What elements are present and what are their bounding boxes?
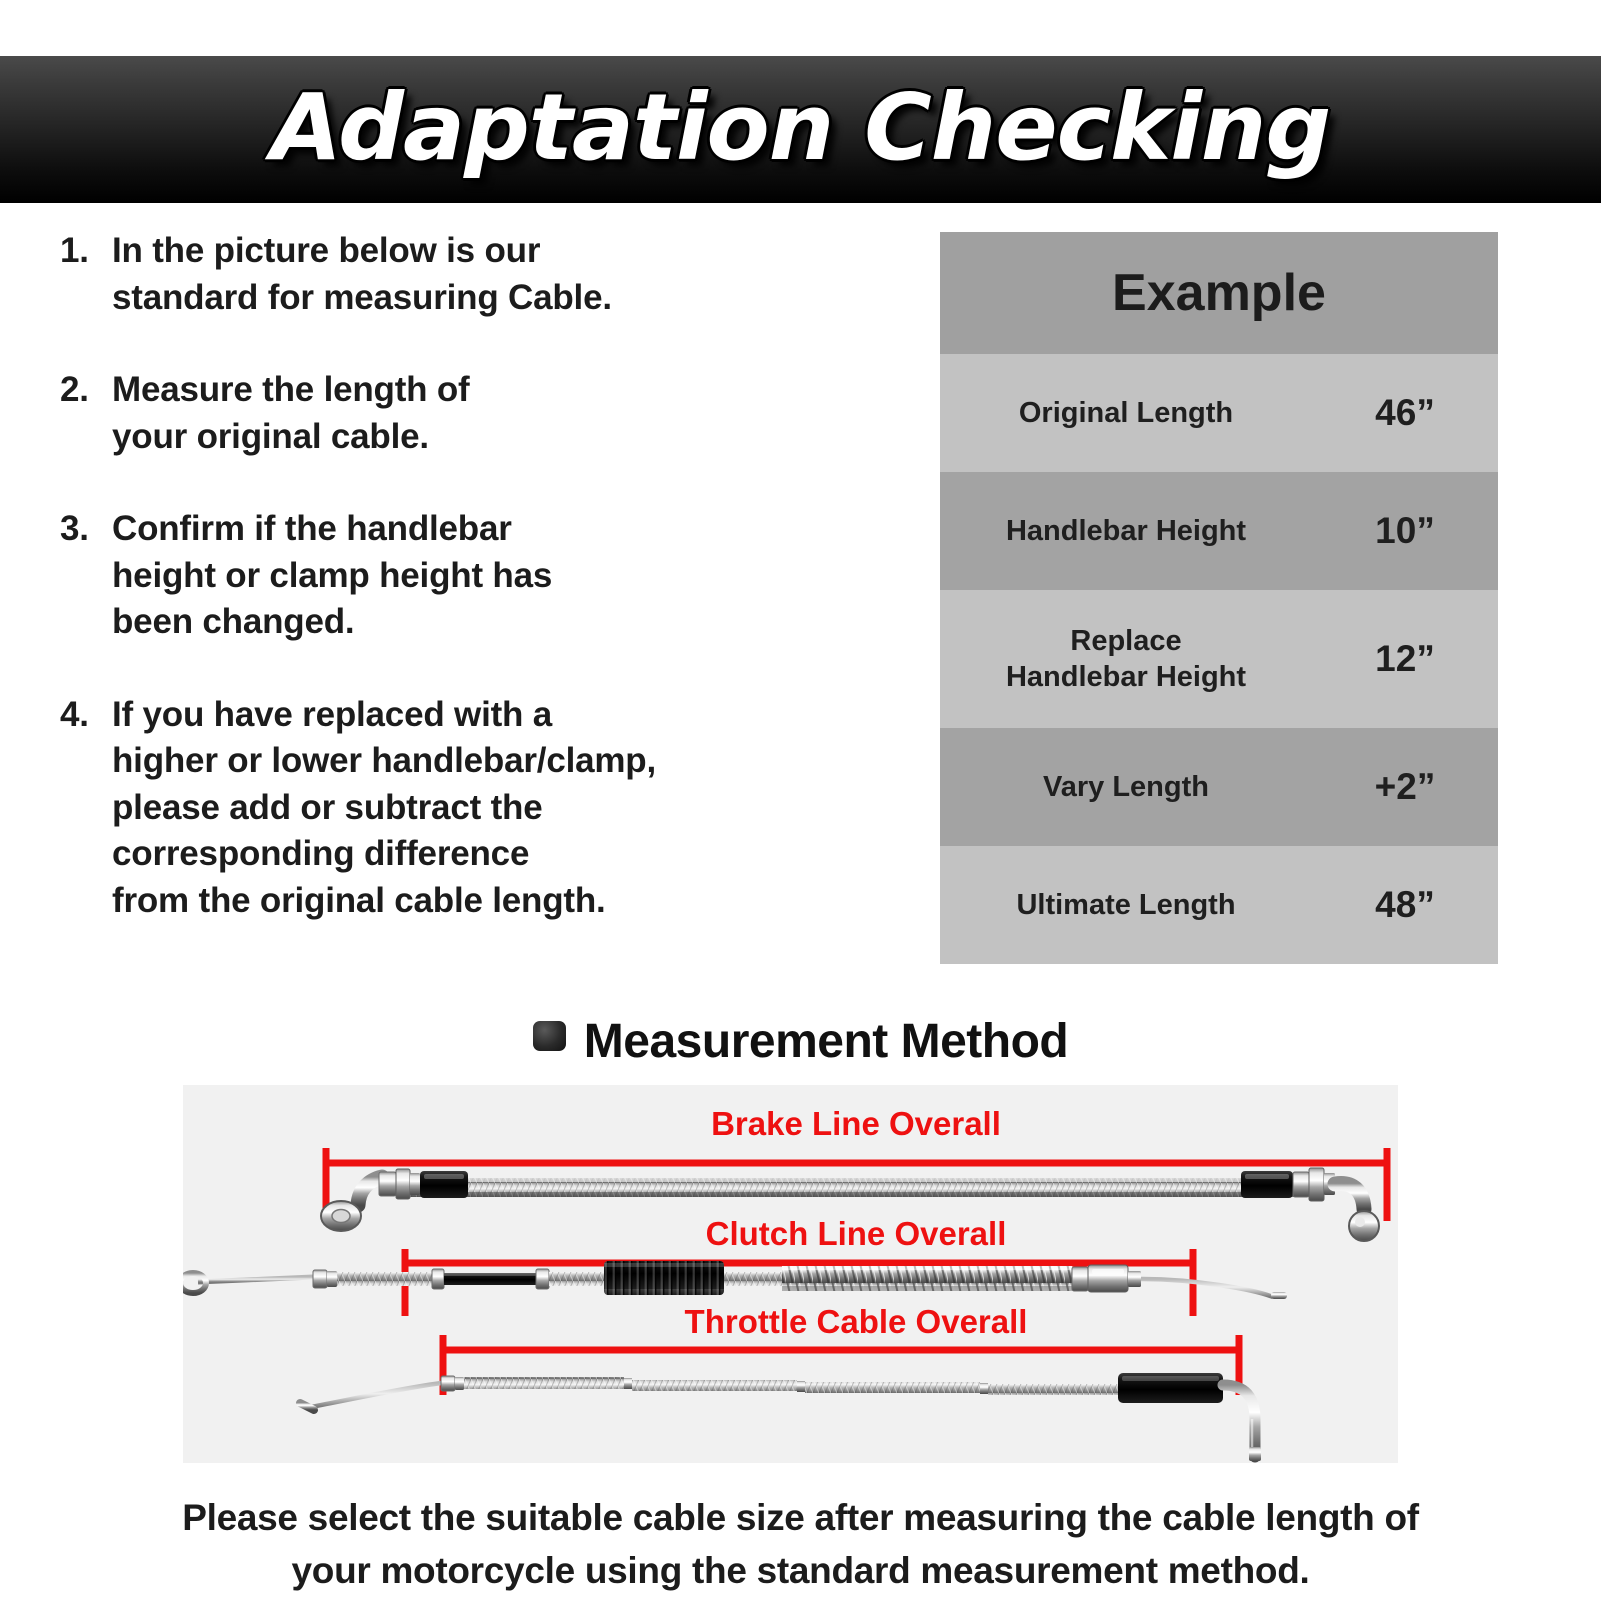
throttle-left-tip — [300, 1403, 314, 1410]
step-line: Confirm if the handlebar — [112, 506, 890, 553]
bullet-icon — [533, 1021, 566, 1051]
row-value: 46” — [1312, 354, 1498, 472]
list-item: 2. Measure the length of your original c… — [60, 367, 890, 460]
step-line: corresponding difference — [112, 831, 890, 878]
step-number: 2. — [60, 367, 112, 414]
table-header-row: Example — [940, 232, 1498, 354]
step-line: your original cable. — [112, 414, 890, 461]
step-line: height or clamp height has — [112, 553, 890, 600]
step-line: standard for measuring Cable. — [112, 275, 890, 322]
step-line: In the picture below is our — [112, 228, 890, 275]
step-text: If you have replaced with a higher or lo… — [112, 692, 890, 925]
footer-line-1: Please select the suitable cable size af… — [0, 1492, 1601, 1545]
throttle-left-wire — [311, 1383, 441, 1407]
step-line: higher or lower handlebar/clamp, — [112, 738, 890, 785]
row-label: Original Length — [940, 354, 1312, 472]
row-label: Handlebar Height — [940, 472, 1312, 590]
table-row: Replace Handlebar Height 12” — [940, 590, 1498, 728]
clutch-wire-tip — [1271, 1292, 1287, 1299]
example-table: Example Original Length 46” Handlebar He… — [940, 232, 1498, 964]
throttle-cable-group: Throttle Cable Overall — [300, 1303, 1261, 1461]
step-number: 3. — [60, 506, 112, 553]
row-label: Vary Length — [940, 728, 1312, 846]
step-line: from the original cable length. — [112, 878, 890, 925]
row-value: 12” — [1312, 590, 1498, 728]
page-title: Adaptation Checking — [0, 82, 1601, 174]
measurement-method-heading: Measurement Method — [0, 1014, 1601, 1069]
brake-left-fitting — [321, 1169, 468, 1231]
page-root: Adaptation Checking 1. In the picture be… — [0, 0, 1601, 1601]
step-text: In the picture below is our standard for… — [112, 228, 890, 321]
measurement-method-title: Measurement Method — [584, 1014, 1068, 1069]
table-row: Vary Length +2” — [940, 728, 1498, 846]
throttle-elbow — [1223, 1385, 1255, 1457]
header-banner: Adaptation Checking — [0, 56, 1601, 203]
footer-line-2: your motorcycle using the standard measu… — [0, 1545, 1601, 1598]
brake-line-label: Brake Line Overall — [711, 1105, 1001, 1142]
table-row: Ultimate Length 48” — [940, 846, 1498, 964]
table-header-label: Example — [940, 232, 1498, 354]
table-row: Handlebar Height 10” — [940, 472, 1498, 590]
table-row: Original Length 46” — [940, 354, 1498, 472]
clutch-line-label: Clutch Line Overall — [706, 1215, 1007, 1252]
list-item: 3. Confirm if the handlebar height or cl… — [60, 506, 890, 646]
step-number: 4. — [60, 692, 112, 739]
row-label: Ultimate Length — [940, 846, 1312, 964]
throttle-end-tip — [1249, 1447, 1261, 1461]
instruction-list: 1. In the picture below is our standard … — [60, 228, 890, 971]
step-number: 1. — [60, 228, 112, 275]
step-line: If you have replaced with a — [112, 692, 890, 739]
list-item: 4. If you have replaced with a higher or… — [60, 692, 890, 925]
list-item: 1. In the picture below is our standard … — [60, 228, 890, 321]
row-label: Replace Handlebar Height — [940, 590, 1312, 728]
step-line: please add or subtract the — [112, 785, 890, 832]
throttle-cable-label: Throttle Cable Overall — [685, 1303, 1028, 1340]
row-value: +2” — [1312, 728, 1498, 846]
clutch-right-wire — [1141, 1279, 1273, 1297]
footer-note: Please select the suitable cable size af… — [0, 1492, 1601, 1597]
step-line: been changed. — [112, 599, 890, 646]
row-label-line: Handlebar Height — [940, 659, 1312, 695]
step-text: Confirm if the handlebar height or clamp… — [112, 506, 890, 646]
brake-right-fitting — [1241, 1168, 1379, 1241]
row-value: 10” — [1312, 472, 1498, 590]
step-line: Measure the length of — [112, 367, 890, 414]
row-value: 48” — [1312, 846, 1498, 964]
row-label-line: Replace — [940, 623, 1312, 659]
clutch-left-wire — [198, 1277, 313, 1282]
step-text: Measure the length of your original cabl… — [112, 367, 890, 460]
measurement-diagram-panel: Brake Line Overall — [183, 1085, 1398, 1463]
